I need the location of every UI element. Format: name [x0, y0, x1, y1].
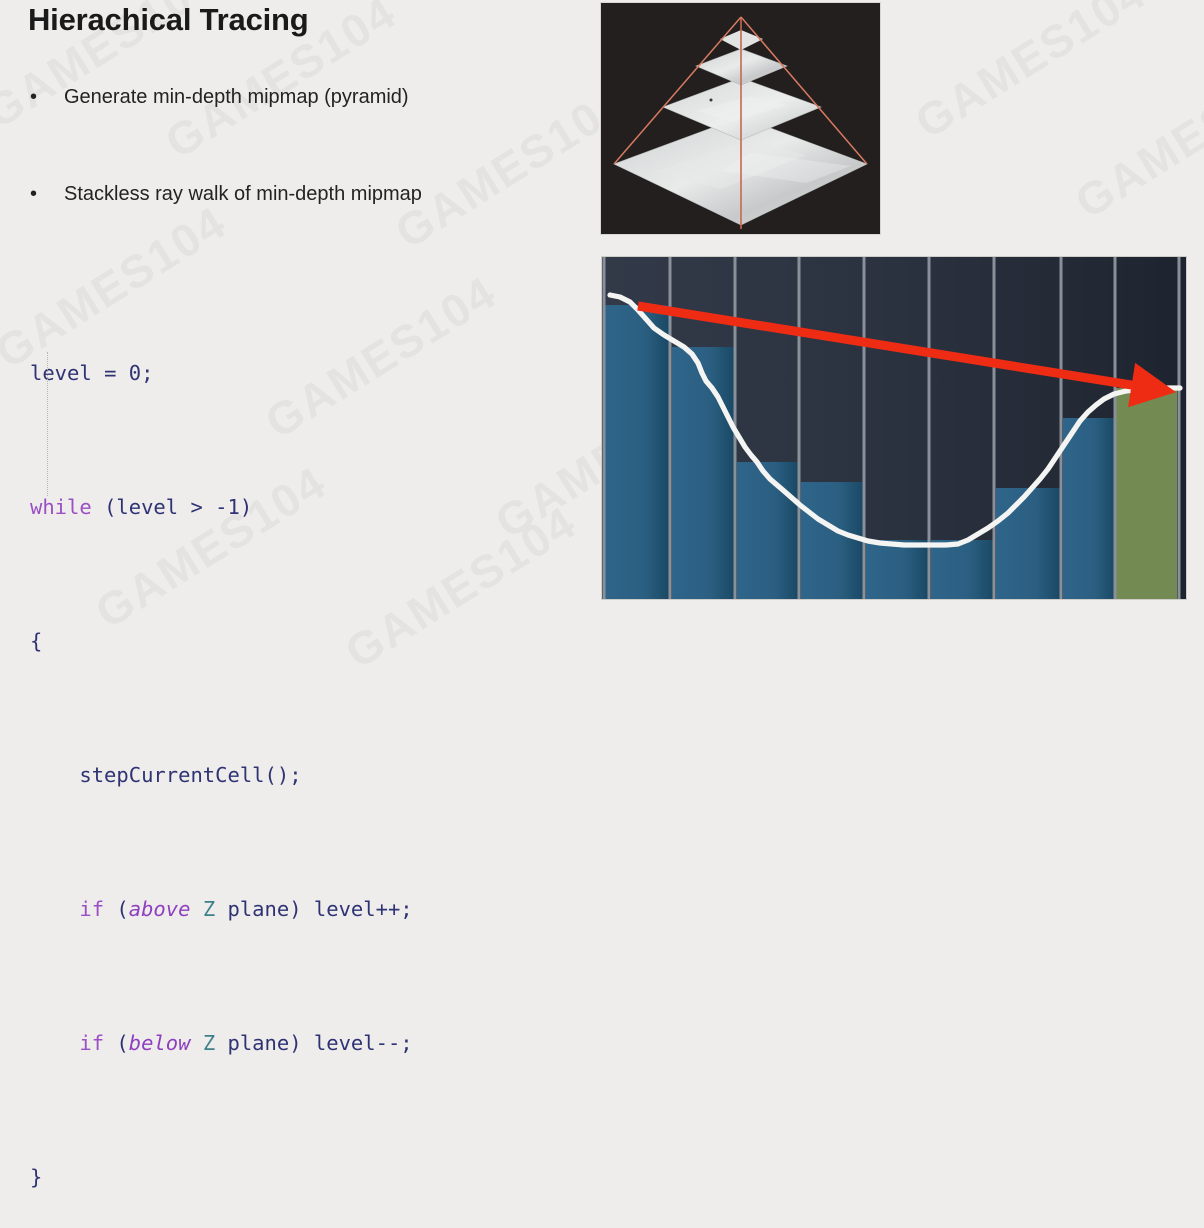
code-token-keyword: while [30, 495, 92, 519]
code-token-operator: = [104, 361, 116, 385]
code-token-paren-open: ( [116, 1031, 128, 1055]
cell-block-7 [1063, 418, 1115, 599]
code-token-identifier: level [116, 495, 178, 519]
bullet-item-2: • Stackless ray walk of min-depth mipmap [30, 183, 422, 206]
code-token-tail: level++; [314, 897, 413, 921]
code-line-1: level = 0; [30, 357, 413, 391]
pyramid-svg [601, 3, 880, 234]
cell-block-3 [801, 482, 864, 599]
bullet-text: Stackless ray walk of min-depth mipmap [64, 183, 422, 206]
code-line-4: stepCurrentCell(); [30, 759, 413, 793]
code-line-2: while (level > -1) [30, 491, 413, 525]
bullet-marker-icon: • [30, 86, 64, 107]
cell-block-0 [604, 305, 670, 599]
code-token-emphasis: below [129, 1031, 191, 1055]
code-token-paren-open: ( [116, 897, 128, 921]
code-token-identifier: level [30, 361, 92, 385]
cell-block-5 [931, 540, 994, 599]
bullet-item-1: • Generate min-depth mipmap (pyramid) [30, 86, 409, 109]
page-title: Hierachical Tracing [28, 2, 309, 38]
code-token-paren-close: ) [289, 1031, 301, 1055]
code-line-7: } [30, 1161, 413, 1195]
code-token-paren-close: ) [240, 495, 252, 519]
cell-block-4 [866, 540, 929, 599]
surface-speck [710, 99, 713, 102]
cell-block-1 [672, 347, 735, 599]
slide-canvas: Hierachical Tracing • Generate min-depth… [0, 0, 1204, 614]
code-line-5: if (above Z plane) level++; [30, 893, 413, 927]
code-token-call: stepCurrentCell(); [79, 763, 301, 787]
cell-block-hit [1115, 388, 1177, 599]
ray-walk-cell-diagram [602, 257, 1186, 599]
cell-diagram-svg [602, 257, 1186, 599]
code-token-word: plane [228, 897, 290, 921]
code-token-tail: level--; [314, 1031, 413, 1055]
code-token-keyword: if [79, 897, 104, 921]
cell-block-6 [996, 488, 1061, 599]
code-indent-guide [47, 352, 48, 496]
code-token-keyword: if [79, 1031, 104, 1055]
code-token-paren-close: ) [289, 897, 301, 921]
mipmap-pyramid-figure [601, 3, 880, 234]
code-token-emphasis: above [129, 897, 191, 921]
code-token-semicolon: ; [141, 361, 153, 385]
code-token-word: plane [228, 1031, 290, 1055]
code-token-number: -1 [215, 495, 240, 519]
bullet-text: Generate min-depth mipmap (pyramid) [64, 86, 409, 109]
code-token-brace-close: } [30, 1165, 42, 1189]
cell-block-2 [737, 462, 799, 599]
code-block: level = 0; while (level > -1) { stepCurr… [30, 290, 413, 1228]
code-token-operator: > [190, 495, 202, 519]
code-token-number: 0 [129, 361, 141, 385]
bullet-marker-icon: • [30, 183, 64, 204]
code-line-6: if (below Z plane) level--; [30, 1027, 413, 1061]
code-token-zvar: Z [203, 897, 215, 921]
code-token-paren-open: ( [104, 495, 116, 519]
code-token-brace-open: { [30, 629, 42, 653]
code-line-3: { [30, 625, 413, 659]
code-token-zvar: Z [203, 1031, 215, 1055]
